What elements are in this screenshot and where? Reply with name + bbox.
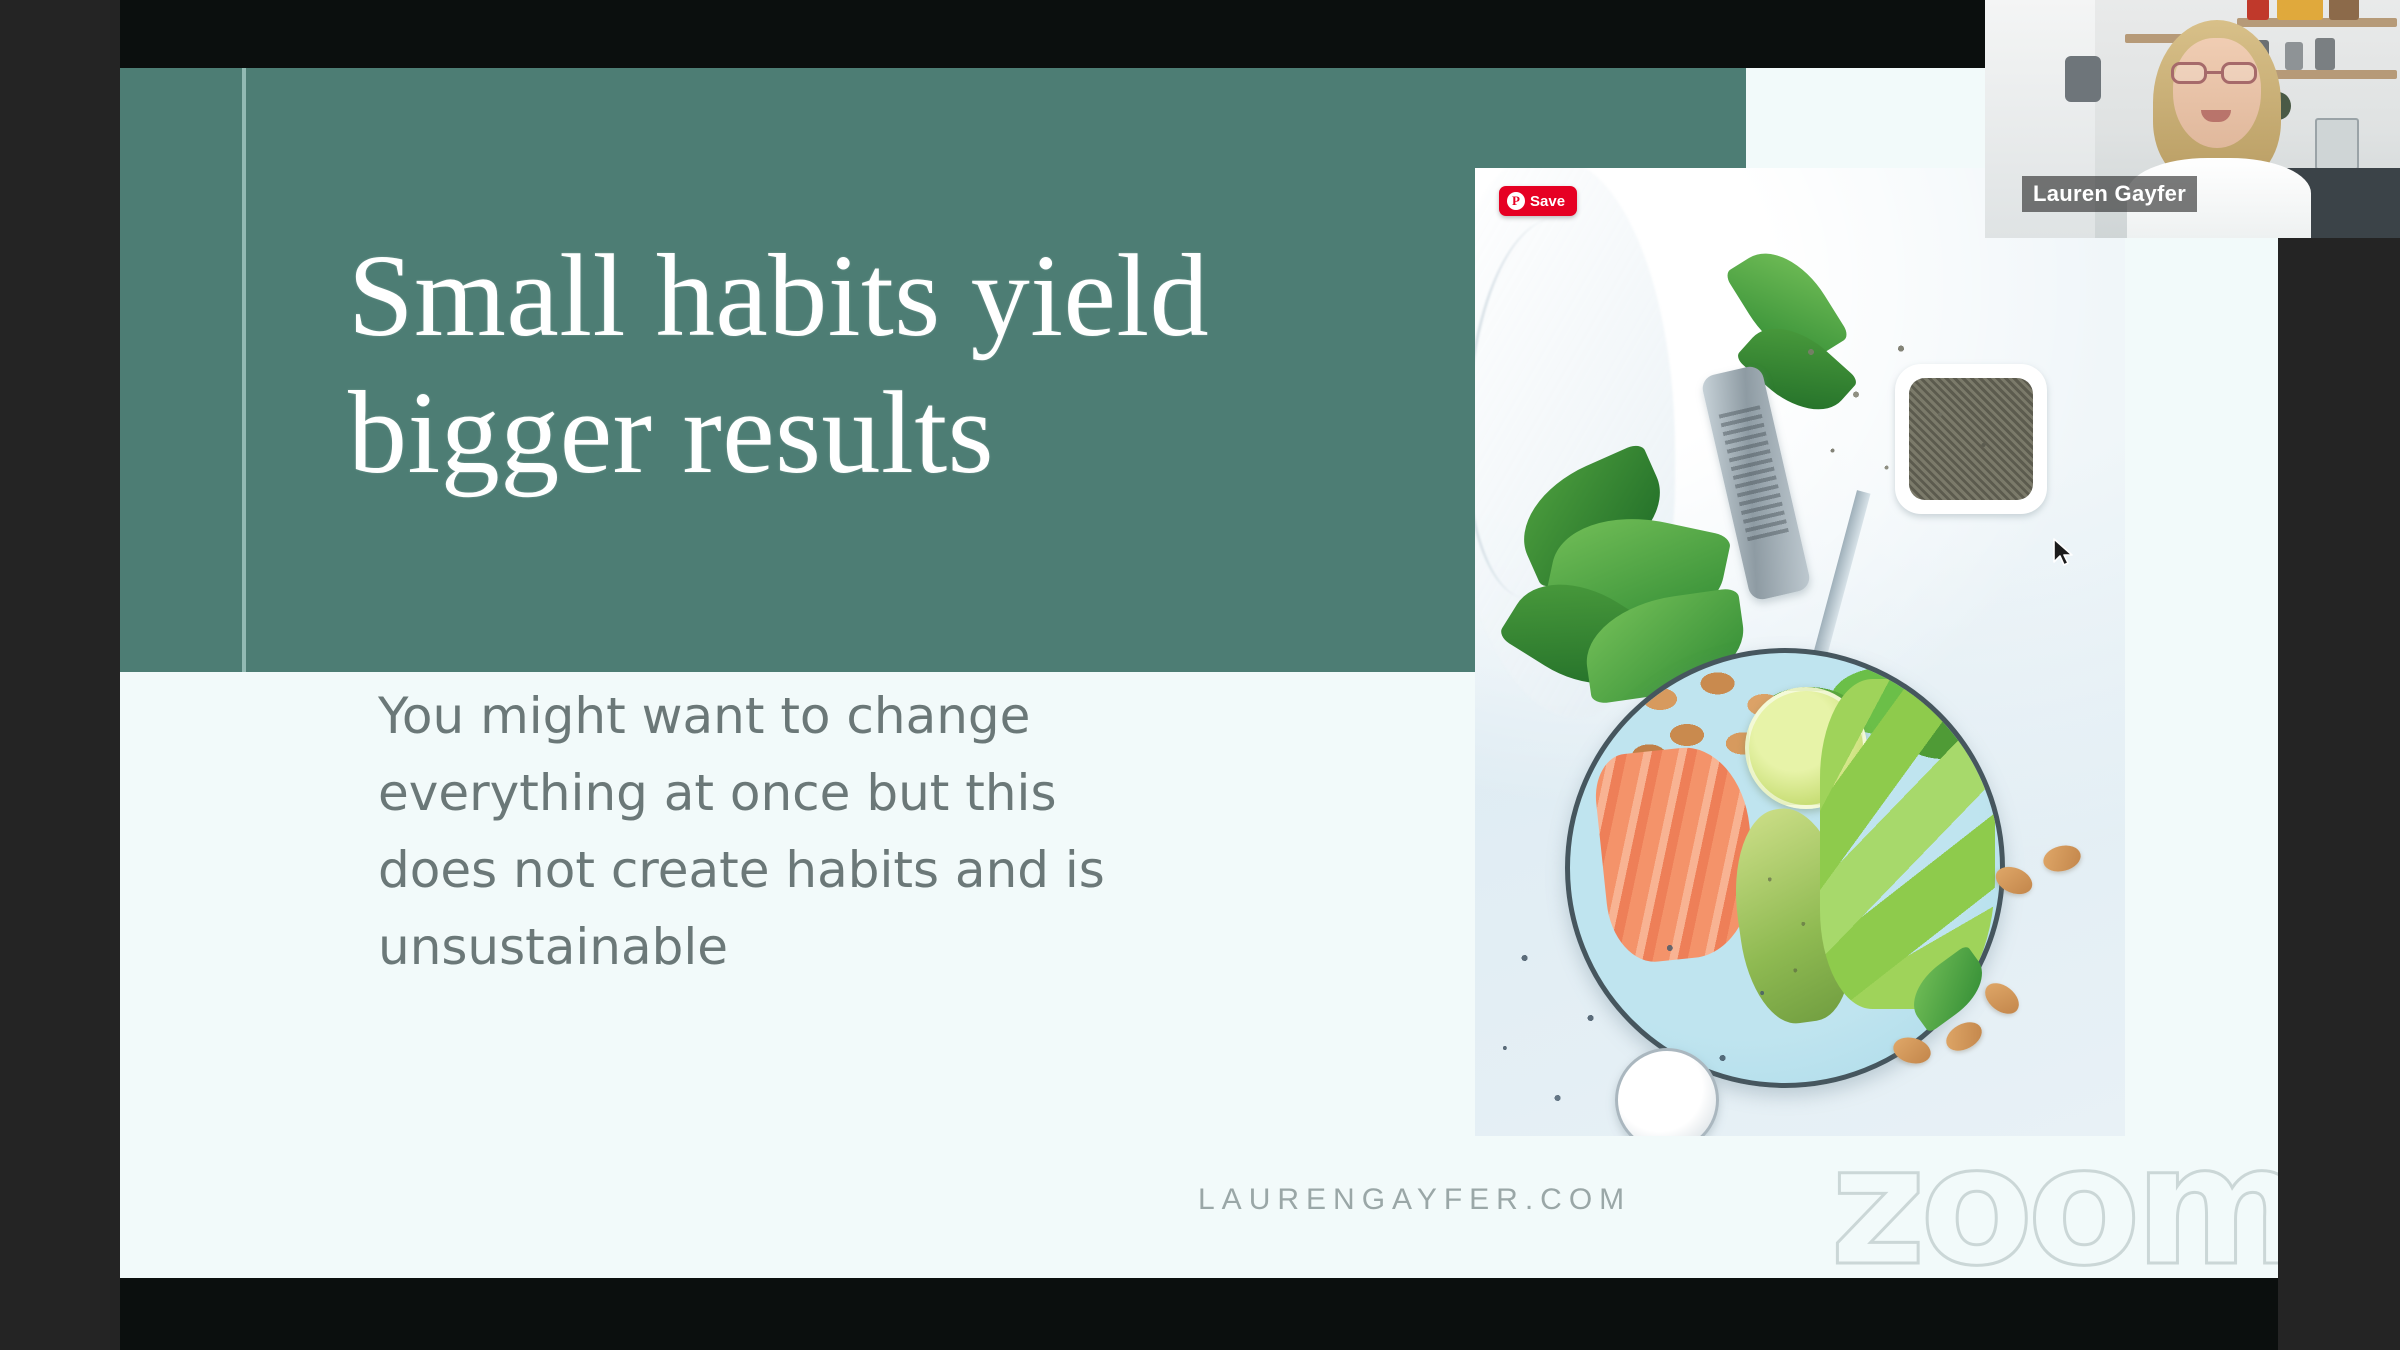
food-photo: P Save (1475, 168, 2125, 1136)
mouse-cursor-icon (2052, 538, 2078, 568)
avatar-face (2173, 38, 2261, 148)
kitchen-jar (2285, 42, 2303, 70)
kitchen-utensil (2065, 56, 2101, 102)
slide-title-line-2: bigger results (348, 365, 1578, 502)
kitchen-container (2315, 118, 2359, 170)
pinterest-icon: P (1507, 192, 1525, 210)
pinterest-save-label: Save (1530, 193, 1565, 210)
participant-name-label: Lauren Gayfer (2022, 176, 2197, 212)
presentation-slide[interactable]: Small habits yield bigger results You mi… (120, 68, 2278, 1278)
chia-seed-bowl (1895, 364, 2047, 514)
glasses-lens-left (2171, 62, 2207, 84)
glasses-icon (2171, 62, 2263, 84)
kitchen-jar (2247, 0, 2269, 20)
glasses-bridge (2207, 71, 2221, 74)
slide-footer-url: LAURENGAYFER.COM (1198, 1183, 1631, 1217)
self-view-video-tile[interactable]: Lauren Gayfer (1985, 0, 2400, 238)
slide-title: Small habits yield bigger results (348, 228, 1578, 502)
zoom-meeting-screen: Small habits yield bigger results You mi… (0, 0, 2400, 1350)
kitchen-jar (2329, 0, 2359, 20)
kitchen-jar (2315, 38, 2335, 70)
pinterest-save-button[interactable]: P Save (1499, 186, 1577, 216)
kitchen-jar (2277, 0, 2323, 20)
glasses-lens-right (2221, 62, 2257, 84)
slide-title-line-1: Small habits yield (348, 228, 1578, 365)
vertical-accent-line (242, 68, 246, 672)
slide-body-text: You might want to change everything at o… (378, 678, 1158, 986)
